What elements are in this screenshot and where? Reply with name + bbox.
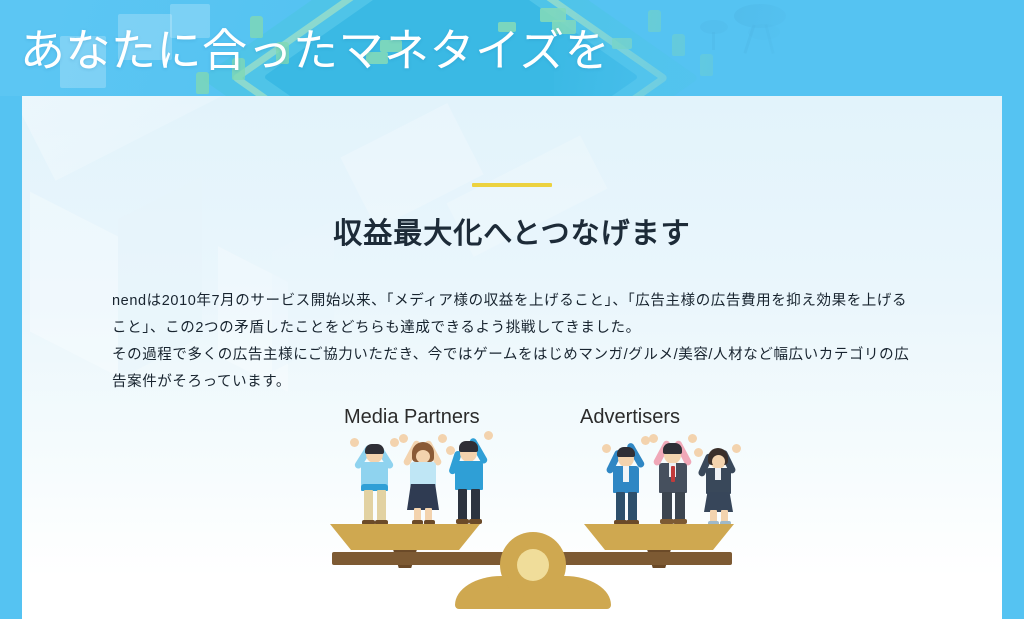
section-heading: 収益最大化へとつなげます <box>22 210 1002 252</box>
scale-pan-right <box>584 524 734 550</box>
person-hair <box>617 447 635 457</box>
person-torso <box>410 462 436 486</box>
person-skirt <box>704 492 733 512</box>
balance-scale-illustration: Media Partners Advertisers <box>322 406 742 619</box>
scale-fulcrum-inner <box>517 549 549 581</box>
content-card: 収益最大化へとつなげます nendは2010年7月のサービス開始以来、「メディア… <box>22 96 1002 619</box>
watermark-road <box>22 96 733 181</box>
page-title: あなたに合ったマネタイズを <box>20 22 610 80</box>
person-hair <box>663 443 682 454</box>
person-media-3 <box>446 436 492 526</box>
person-media-2 <box>400 438 446 526</box>
scale-pan-left <box>330 524 480 550</box>
person-hair <box>459 441 478 452</box>
body-paragraph-2: その過程で多くの広告主様にご協力いただき、今ではゲームをはじめマンガ/グルメ/美… <box>112 342 922 396</box>
person-hair <box>365 444 384 454</box>
person-advertiser-2 <box>650 438 696 526</box>
label-media-partners: Media Partners <box>344 406 480 429</box>
section-body-copy: nendは2010年7月のサービス開始以来、「メディア様の収益を上げること」、「… <box>112 288 922 396</box>
necktie <box>671 466 675 482</box>
person-torso <box>455 461 483 490</box>
person-advertiser-1 <box>604 442 648 526</box>
person-skirt <box>407 484 439 510</box>
person-media-1 <box>352 440 398 526</box>
body-paragraph-1: nendは2010年7月のサービス開始以来、「メディア様の収益を上げること」、「… <box>112 288 922 342</box>
hero-banner: あなたに合ったマネタイズを <box>0 0 1024 96</box>
label-advertisers: Advertisers <box>580 406 680 429</box>
section-divider <box>472 183 552 187</box>
person-advertiser-3 <box>696 444 740 526</box>
